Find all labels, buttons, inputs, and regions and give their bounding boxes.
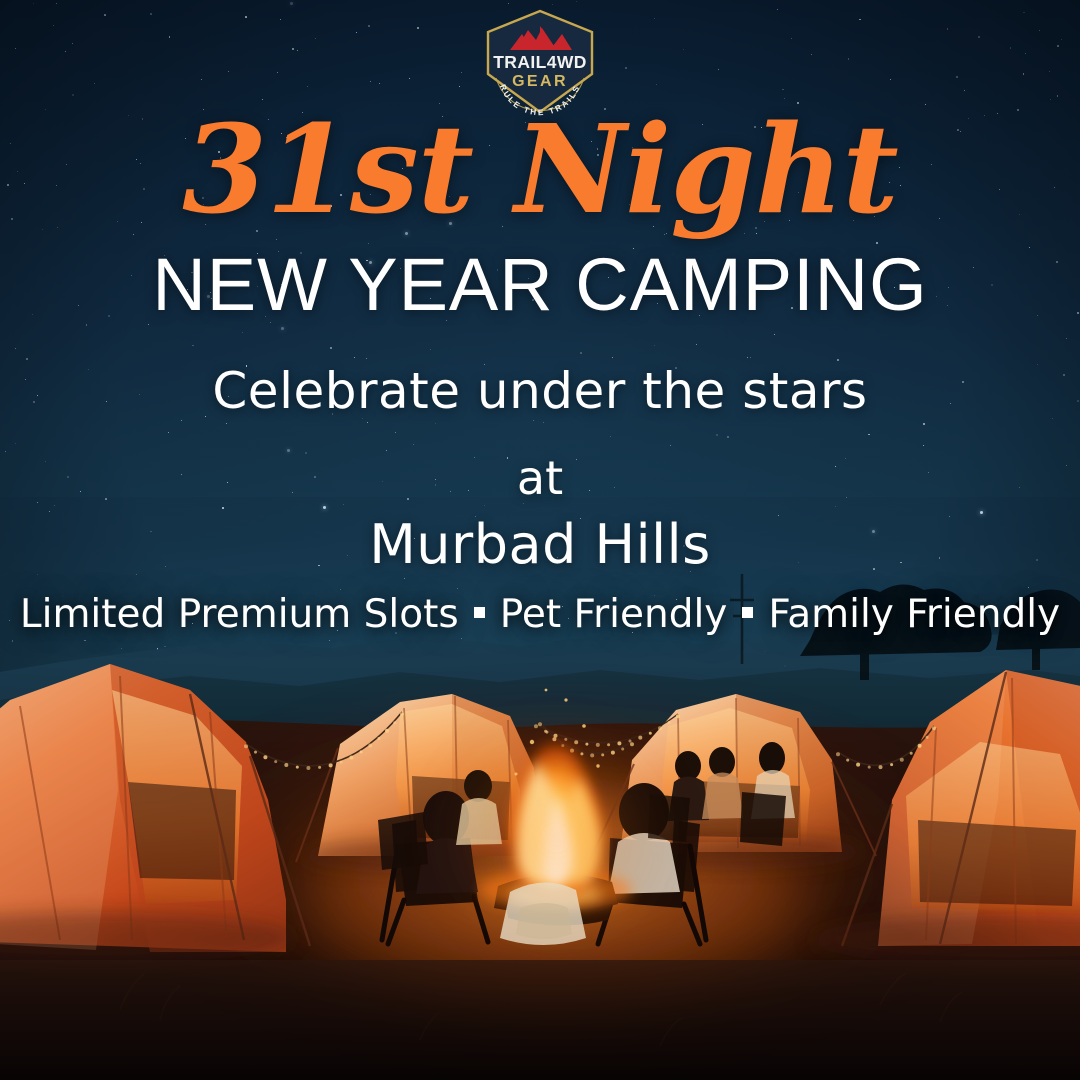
string-light-bulb <box>658 726 662 730</box>
string-light-bulb <box>296 766 299 769</box>
string-light-bulb <box>318 766 321 769</box>
string-light-bulb <box>836 752 840 756</box>
string-light-bulb <box>638 736 642 740</box>
string-light-bulb <box>649 732 652 735</box>
string-light-bulb <box>340 761 343 764</box>
feature-item: Family Friendly <box>768 595 1060 634</box>
main-title: NEW YEAR CAMPING <box>0 248 1080 322</box>
string-light-bulb <box>856 763 860 767</box>
string-light-bulb <box>676 714 680 718</box>
string-light-bulb <box>629 740 632 743</box>
string-light-bulb <box>284 763 288 767</box>
string-light-bulb <box>879 765 883 769</box>
preposition-at: at <box>0 455 1080 501</box>
string-light-bulb <box>263 755 267 759</box>
string-light-bulb <box>393 721 396 724</box>
feature-separator <box>474 607 485 618</box>
venue-name: Murbad Hills <box>0 518 1080 572</box>
string-light-bulb <box>910 752 913 755</box>
poster-canvas: TRAIL4WD GEAR RULE THE TRAILS 31st Night… <box>0 0 1080 1080</box>
subtitle-tagline: Celebrate under the stars <box>0 366 1080 416</box>
feature-item: Pet Friendly <box>500 595 728 634</box>
string-light-bulb <box>630 742 634 746</box>
logo-secondary-text: GEAR <box>512 73 568 90</box>
string-light-bulb <box>890 763 893 766</box>
string-light-bulb <box>900 758 904 762</box>
logo-primary-text: TRAIL4WD <box>493 52 587 72</box>
string-light-bulb <box>244 744 248 748</box>
script-headline: 31st Night <box>0 108 1080 230</box>
string-light-bulb <box>932 726 936 730</box>
camp-sack <box>500 882 586 945</box>
features-list: Limited Premium SlotsPet FriendlyFamily … <box>0 595 1080 634</box>
string-light-bulb <box>306 766 310 770</box>
string-light-bulb <box>377 737 380 740</box>
string-light-bulb <box>274 760 277 763</box>
string-light-bulb <box>360 750 363 753</box>
string-light-bulb <box>349 756 353 760</box>
string-light-bulb <box>868 766 871 769</box>
string-light-bulb <box>918 744 922 748</box>
feature-item: Limited Premium Slots <box>20 595 459 634</box>
string-light-bulb <box>668 721 671 724</box>
string-light-bulb <box>368 744 372 748</box>
feature-separator <box>742 607 753 618</box>
string-light-bulb <box>254 751 257 754</box>
string-light-bulb <box>385 729 389 733</box>
string-light-bulb <box>329 763 333 767</box>
string-light-bulb <box>538 722 542 726</box>
string-light-bulb <box>846 759 849 762</box>
string-light-bulb <box>400 712 404 716</box>
string-light-bulb <box>926 736 929 739</box>
string-light-bulb <box>534 724 538 728</box>
